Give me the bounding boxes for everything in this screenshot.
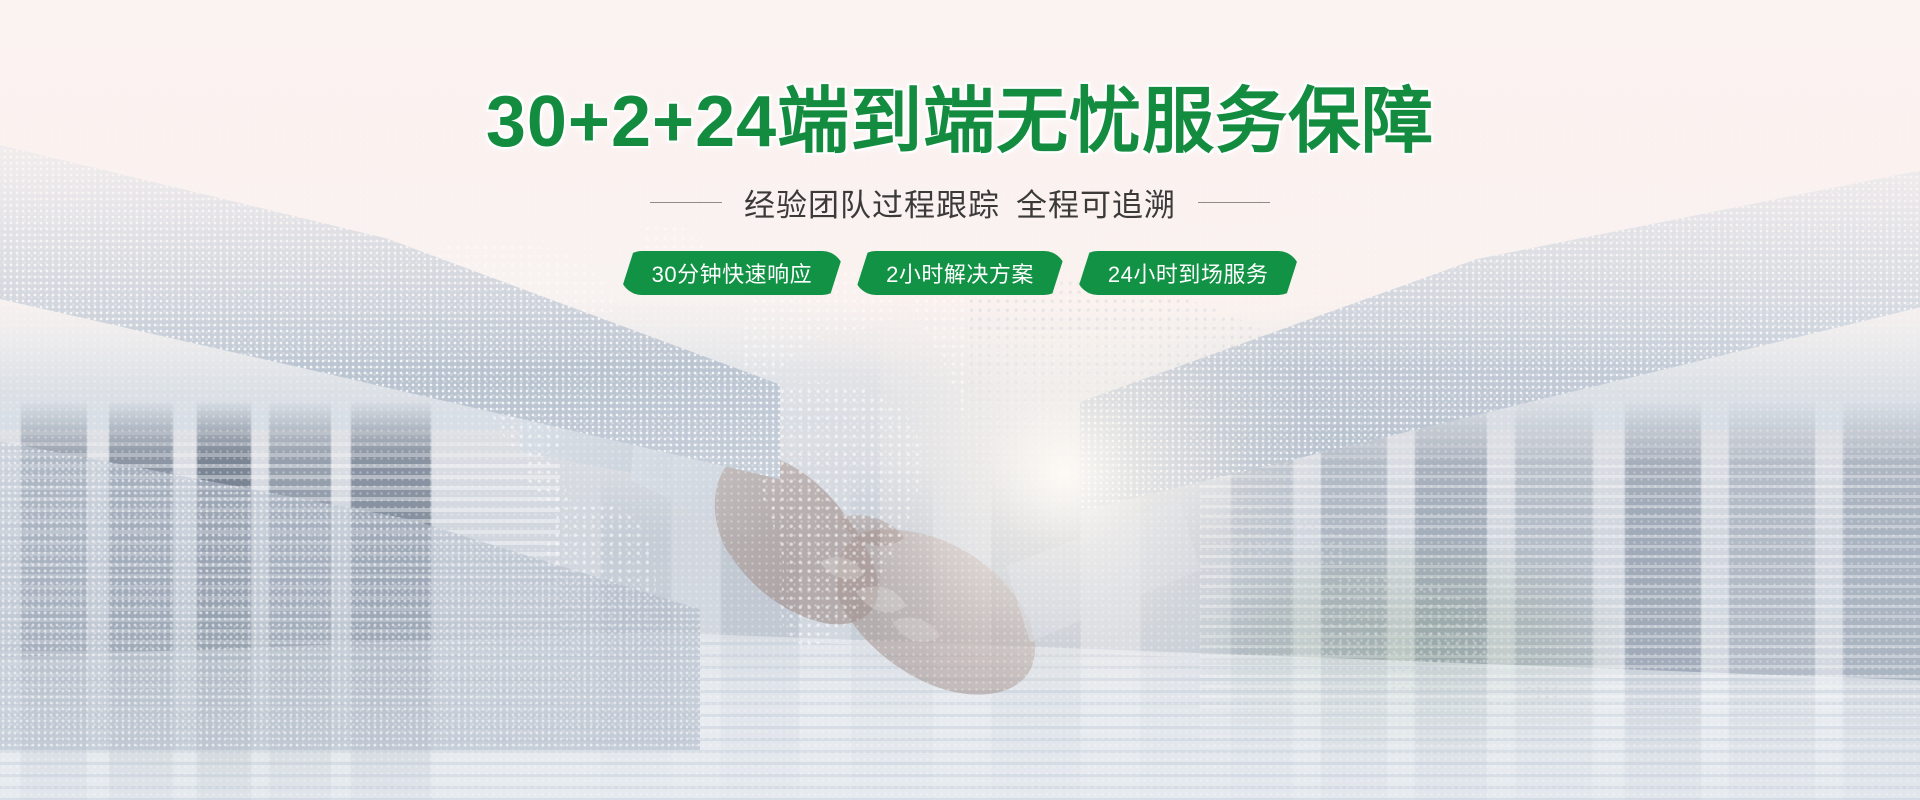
service-guarantee-banner: 30+2+24端到端无忧服务保障 经验团队过程跟踪全程可追溯 30分钟快速响应 … bbox=[0, 0, 1920, 800]
pill-response-time[interactable]: 30分钟快速响应 bbox=[620, 251, 844, 295]
pill-solution-time[interactable]: 2小时解决方案 bbox=[854, 251, 1066, 295]
pill-label: 2小时解决方案 bbox=[854, 251, 1066, 295]
rule-right-icon bbox=[1198, 202, 1270, 203]
subtitle: 经验团队过程跟踪全程可追溯 bbox=[744, 180, 1176, 225]
subtitle-left-text: 经验团队过程跟踪 bbox=[744, 188, 1000, 223]
rule-left-icon bbox=[650, 202, 722, 203]
page-title: 30+2+24端到端无忧服务保障 bbox=[486, 86, 1434, 158]
pill-label: 30分钟快速响应 bbox=[620, 251, 844, 295]
service-promise-pills: 30分钟快速响应 2小时解决方案 24小时到场服务 bbox=[620, 251, 1301, 295]
pill-label: 24小时到场服务 bbox=[1076, 251, 1300, 295]
subtitle-right-text: 全程可追溯 bbox=[1016, 188, 1176, 223]
pill-onsite-time[interactable]: 24小时到场服务 bbox=[1076, 251, 1300, 295]
banner-content: 30+2+24端到端无忧服务保障 经验团队过程跟踪全程可追溯 30分钟快速响应 … bbox=[0, 0, 1920, 800]
subtitle-row: 经验团队过程跟踪全程可追溯 bbox=[650, 180, 1270, 225]
